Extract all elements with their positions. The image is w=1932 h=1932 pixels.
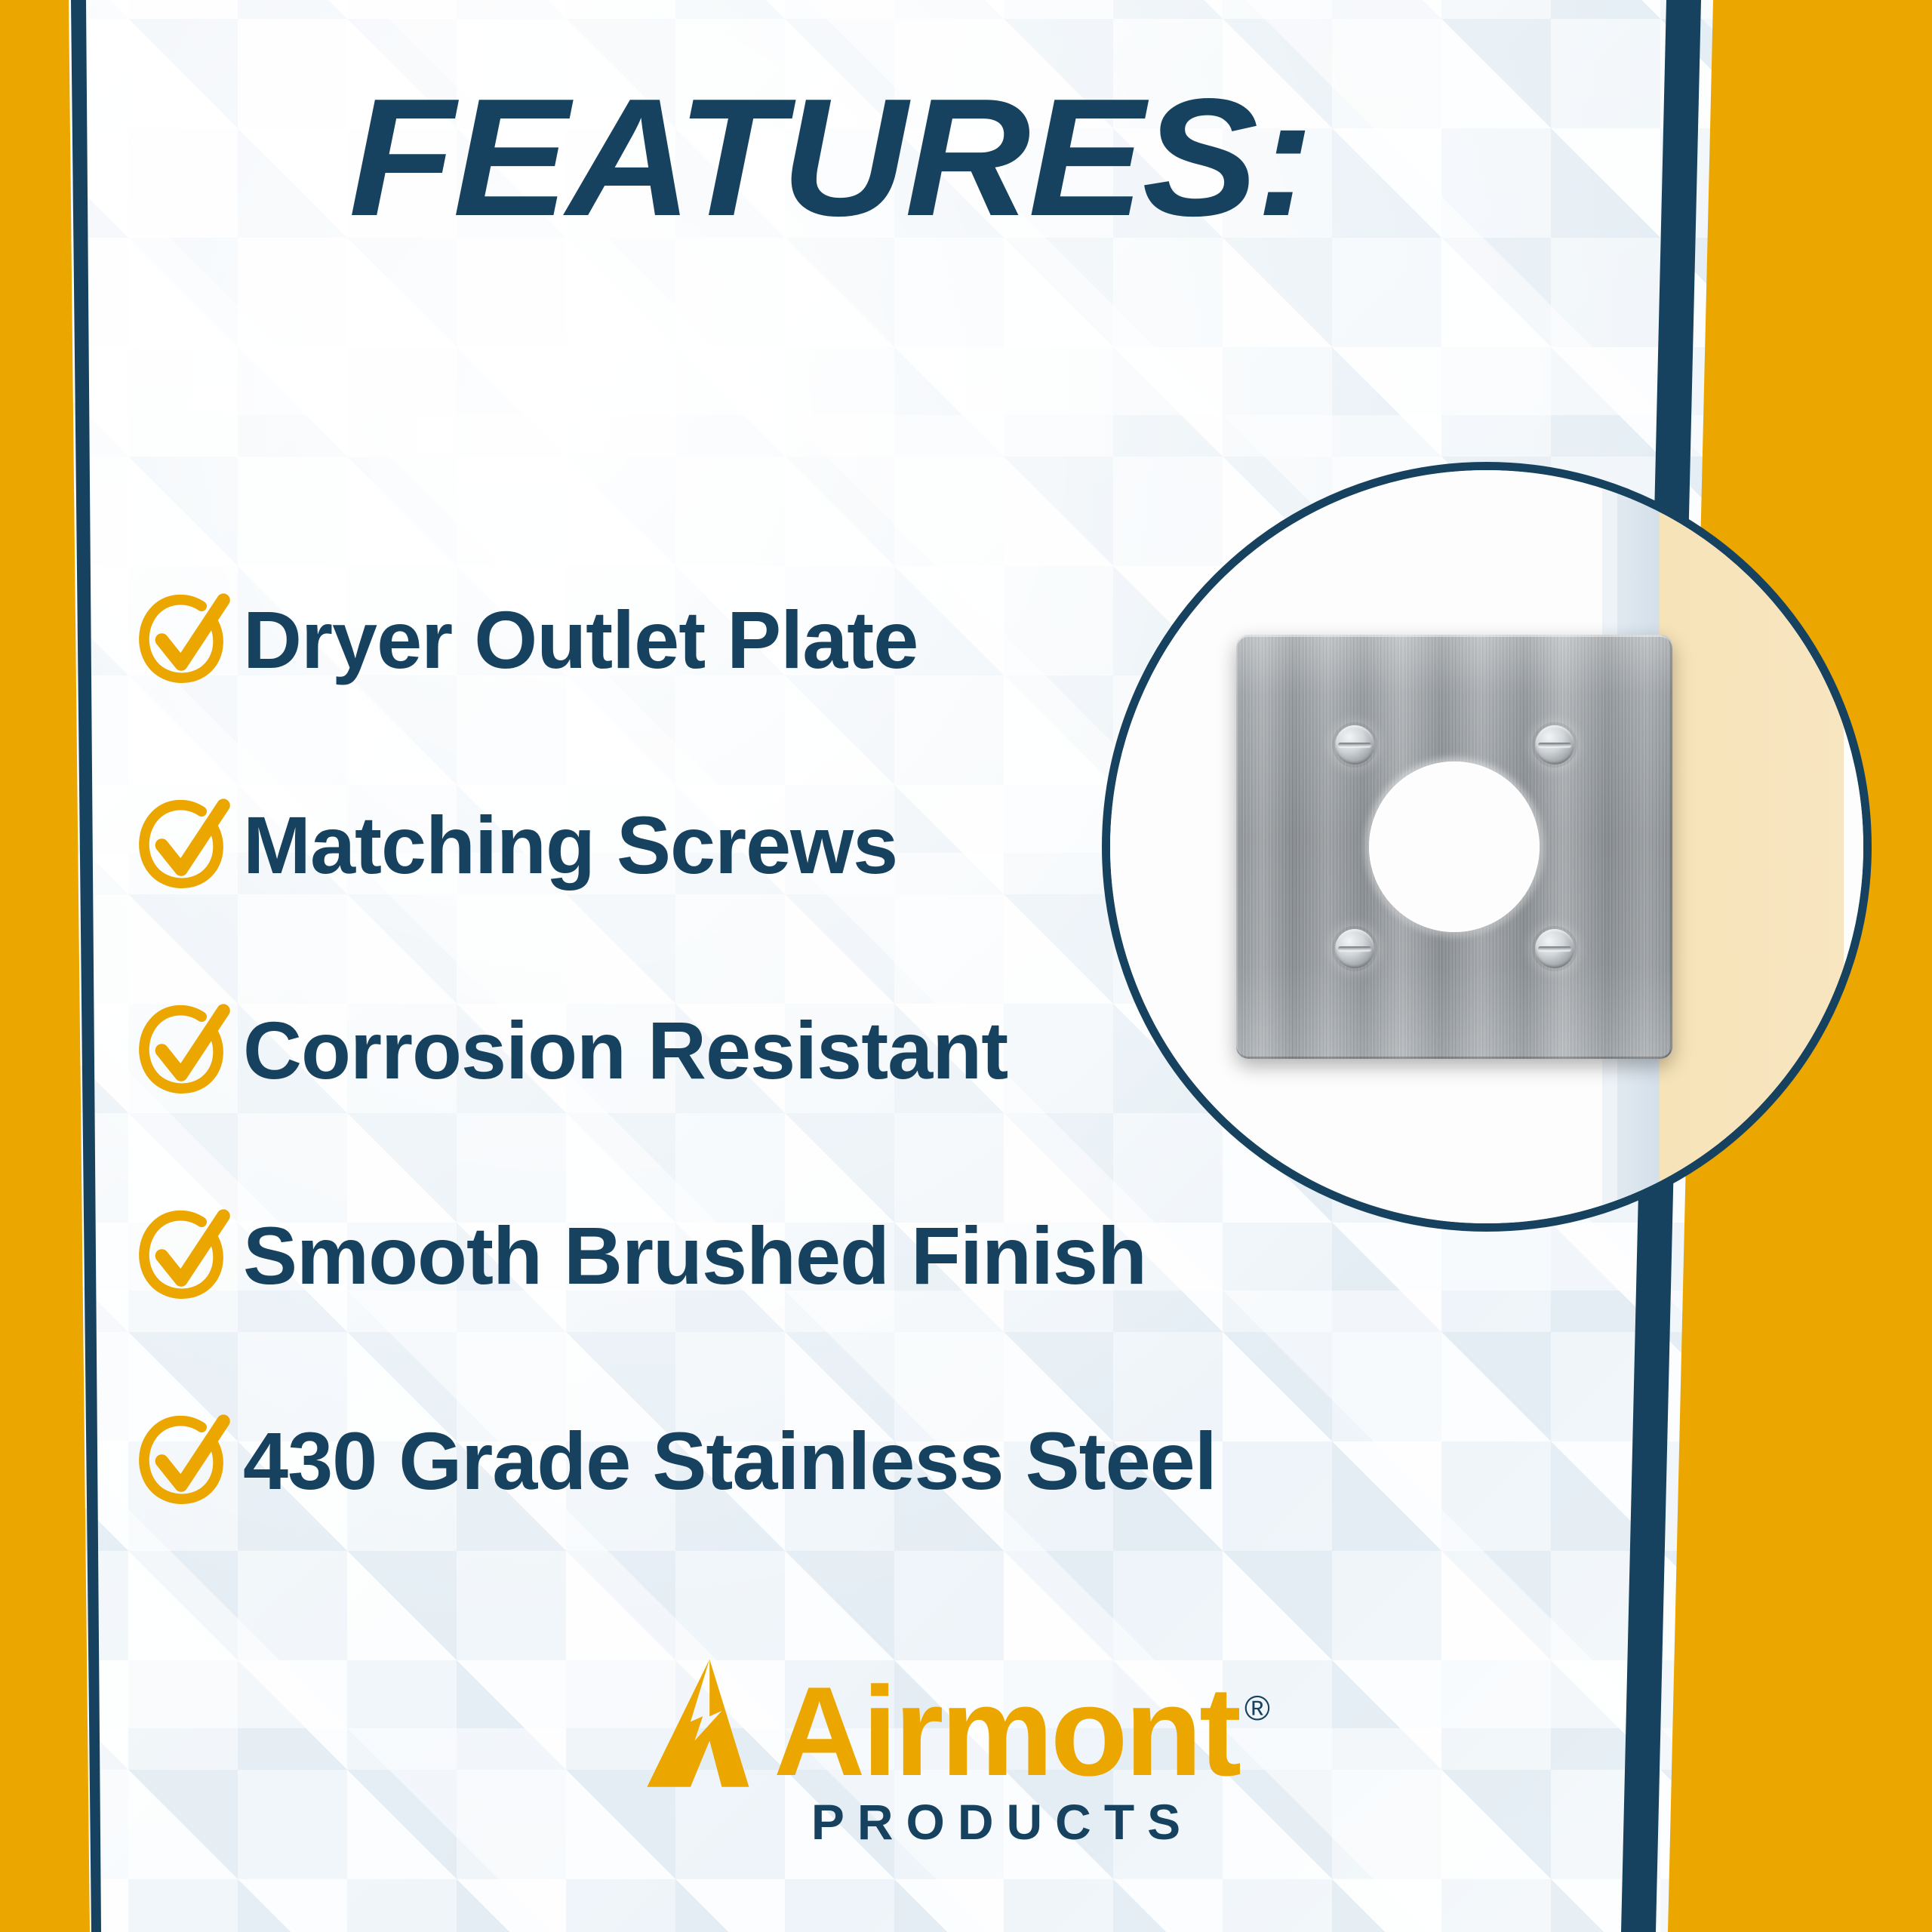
page-title: FEATURES:	[0, 69, 1694, 247]
infographic-canvas: FEATURES: Dryer Outlet Plate	[0, 0, 1932, 1932]
feature-item: Matching Screws	[127, 779, 1304, 912]
logo-subtitle: PRODUCTS	[811, 1793, 1193, 1850]
logo-name: Airmont	[774, 1673, 1238, 1790]
feature-label: Matching Screws	[243, 804, 897, 886]
feature-label: Corrosion Resistant	[243, 1010, 1008, 1091]
feature-item: Smooth Brushed Finish	[127, 1189, 1304, 1322]
check-circle-icon	[127, 580, 248, 700]
screw-top-right	[1535, 725, 1574, 764]
check-circle-icon	[127, 990, 248, 1111]
feature-label: Dryer Outlet Plate	[243, 599, 918, 681]
feature-item: Corrosion Resistant	[127, 984, 1304, 1117]
features-list: Dryer Outlet Plate Matching Screws Corro…	[127, 574, 1304, 1600]
feature-item: 430 Grade Stainless Steel	[127, 1395, 1304, 1527]
logo-wordmark: Airmont ®	[636, 1656, 1270, 1790]
screw-bottom-left	[1335, 929, 1374, 968]
brand-logo: Airmont ® PRODUCTS	[0, 1656, 1932, 1850]
feature-item: Dryer Outlet Plate	[127, 574, 1304, 706]
feature-label: Smooth Brushed Finish	[243, 1215, 1146, 1297]
screw-top-left	[1335, 725, 1374, 764]
screw-bottom-right	[1535, 929, 1574, 968]
outlet-opening	[1369, 761, 1540, 932]
check-circle-icon	[127, 785, 248, 906]
airmont-mountain-icon	[636, 1656, 786, 1793]
check-circle-icon	[127, 1195, 248, 1316]
check-circle-icon	[127, 1401, 248, 1521]
registered-trademark-icon: ®	[1244, 1690, 1270, 1725]
feature-label: 430 Grade Stainless Steel	[243, 1420, 1217, 1502]
